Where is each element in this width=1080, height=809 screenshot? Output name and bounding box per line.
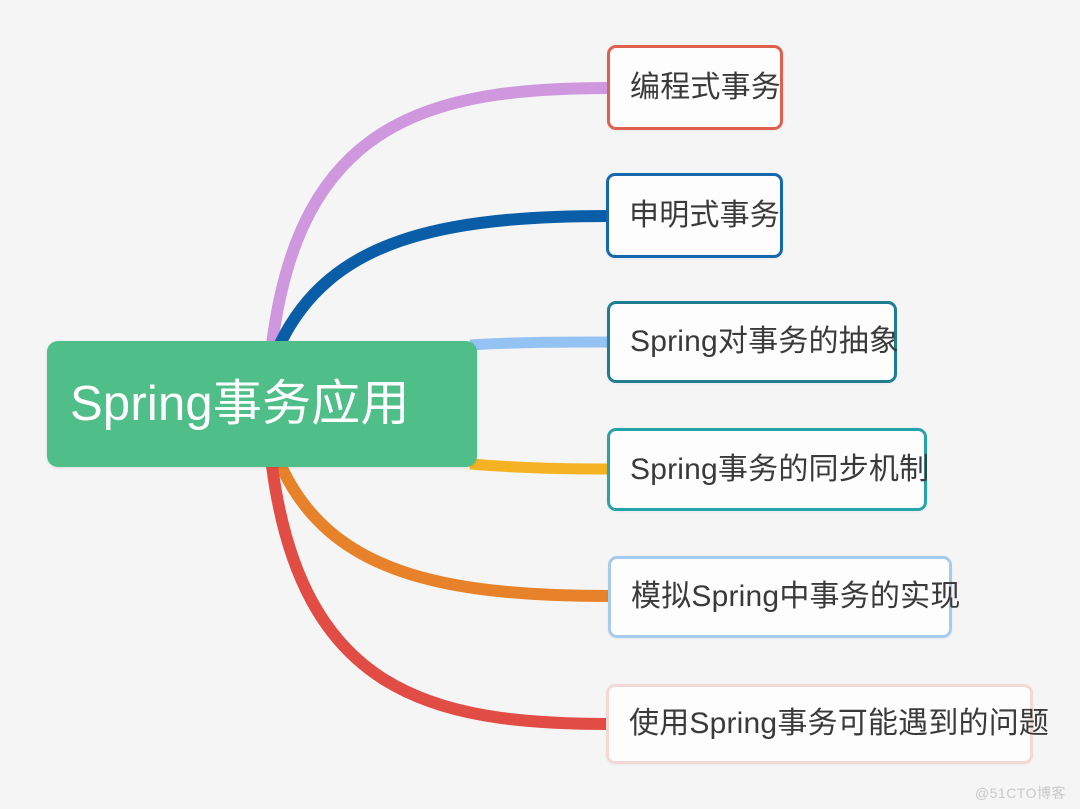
branch-node-transaction-synchronization[interactable]: Spring事务的同步机制 (607, 428, 927, 511)
branch-node-transaction-problems[interactable]: 使用Spring事务可能遇到的问题 (606, 684, 1033, 764)
branch-node-label: 申明式事务 (629, 199, 780, 233)
connector-branch-3 (470, 342, 610, 345)
watermark: @51CTO博客 (975, 783, 1066, 803)
branch-node-label: 模拟Spring中事务的实现 (631, 580, 961, 614)
connector-branch-5 (281, 466, 610, 596)
root-node-label: Spring事务应用 (70, 378, 410, 430)
branch-node-label: Spring对事务的抽象 (630, 325, 899, 359)
connector-branch-4 (470, 464, 610, 469)
mindmap-canvas: Spring事务应用 编程式事务 申明式事务 Spring对事务的抽象 Spri… (0, 0, 1080, 809)
branch-node-label: 使用Spring事务可能遇到的问题 (629, 707, 1049, 741)
branch-node-simulate-spring-transaction[interactable]: 模拟Spring中事务的实现 (608, 556, 952, 638)
connector-branch-6 (272, 466, 609, 724)
root-node[interactable]: Spring事务应用 (47, 341, 477, 467)
connector-branch-1 (272, 88, 610, 345)
branch-node-declarative-transaction[interactable]: 申明式事务 (606, 173, 783, 258)
branch-node-spring-transaction-abstraction[interactable]: Spring对事务的抽象 (607, 301, 897, 383)
branch-node-label: Spring事务的同步机制 (630, 453, 929, 487)
branch-node-programmatic-transaction[interactable]: 编程式事务 (607, 45, 783, 130)
branch-node-label: 编程式事务 (630, 71, 781, 105)
connector-branch-2 (280, 216, 609, 344)
